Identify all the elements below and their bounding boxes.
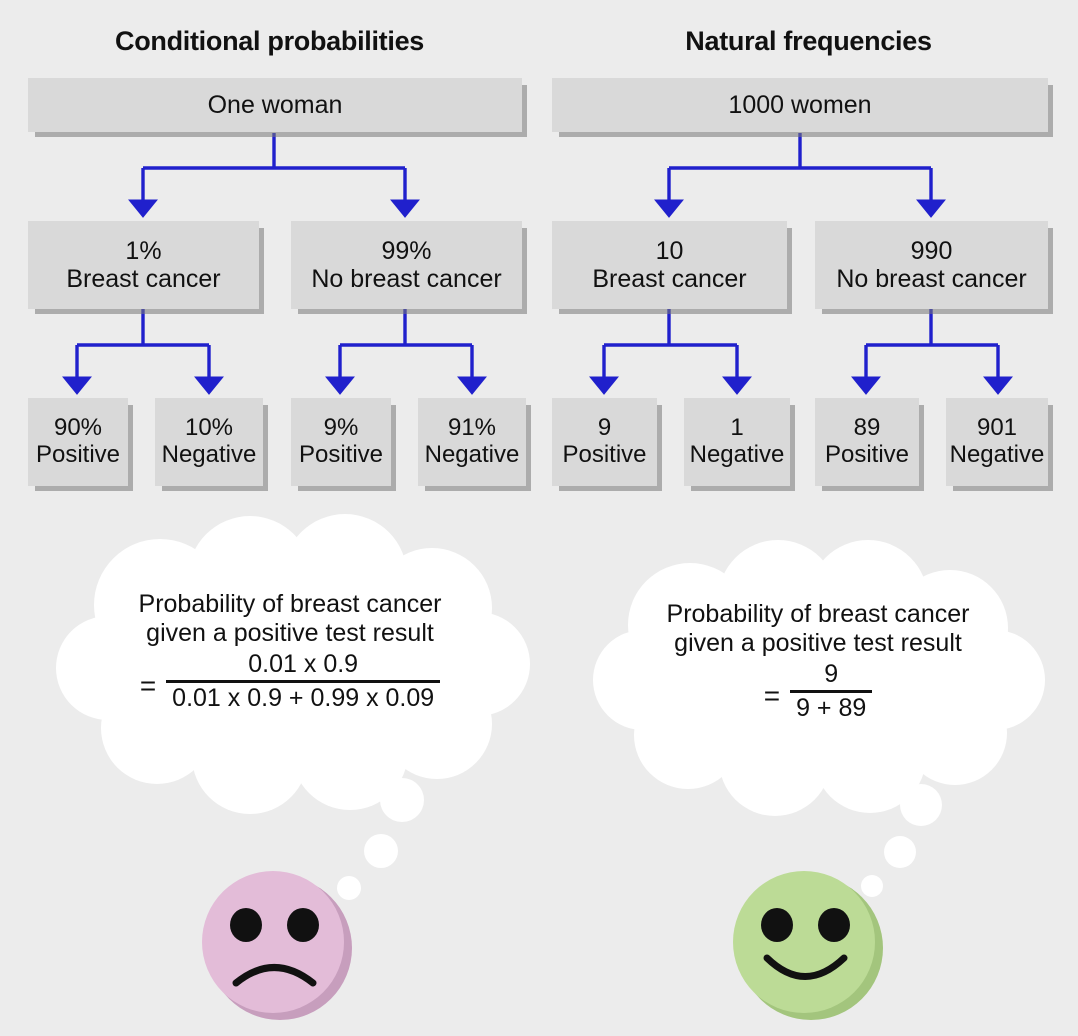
bubble-left-fraction: 0.01 x 0.9 0.01 x 0.9 + 0.99 x 0.09 [166,650,440,713]
bubble-right-fraction: 9 9 + 89 [790,660,872,723]
bubble-text-right: Probability of breast cancer given a pos… [568,600,1068,723]
bubble-left-line2: given a positive test result [40,619,540,648]
bubble-right-line1: Probability of breast cancer [568,600,1068,629]
bubble-right-numerator: 9 [818,660,844,690]
bubble-left-line1: Probability of breast cancer [40,590,540,619]
thought-bubble-layer [0,0,1078,1036]
sad-face-icon [202,871,352,1020]
bubble-left-numerator: 0.01 x 0.9 [242,650,364,680]
bubble-right-equals: = [764,682,780,710]
diagram-canvas: Conditional probabilities Natural freque… [0,0,1078,1036]
bubble-left-equals: = [140,672,156,700]
bubble-right-denominator: 9 + 89 [790,693,872,723]
bubble-text-left: Probability of breast cancer given a pos… [40,590,540,713]
bubble-left-denominator: 0.01 x 0.9 + 0.99 x 0.09 [166,683,440,713]
happy-face-icon [733,871,883,1020]
bubble-right-line2: given a positive test result [568,629,1068,658]
bubble-left-formula: = 0.01 x 0.9 0.01 x 0.9 + 0.99 x 0.09 [40,650,540,713]
bubble-right-formula: = 9 9 + 89 [568,660,1068,723]
